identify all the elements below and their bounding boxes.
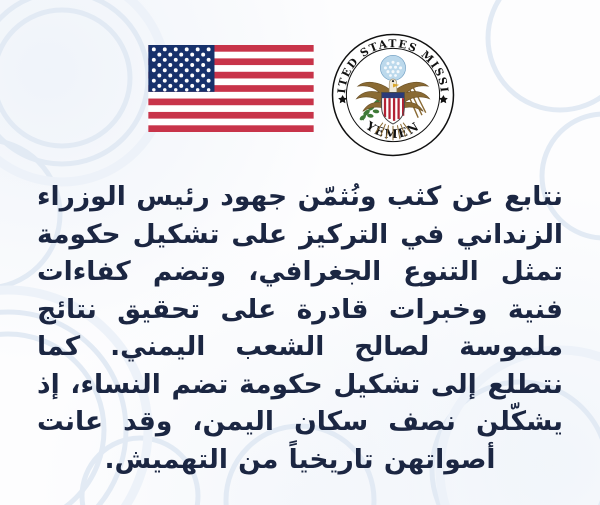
united-states-flag-icon xyxy=(148,45,314,132)
statement-paragraph: نتابع عن كثب ونُثمّن جهود رئيس الوزراء ا… xyxy=(37,178,563,478)
statement-card: UNITED STATES MISSION YEMEN xyxy=(0,0,600,505)
statement-text: نتابع عن كثب ونُثمّن جهود رئيس الوزراء ا… xyxy=(37,178,563,478)
us-mission-yemen-seal-icon: UNITED STATES MISSION YEMEN xyxy=(330,32,456,158)
emblem-row: UNITED STATES MISSION YEMEN xyxy=(0,30,600,155)
